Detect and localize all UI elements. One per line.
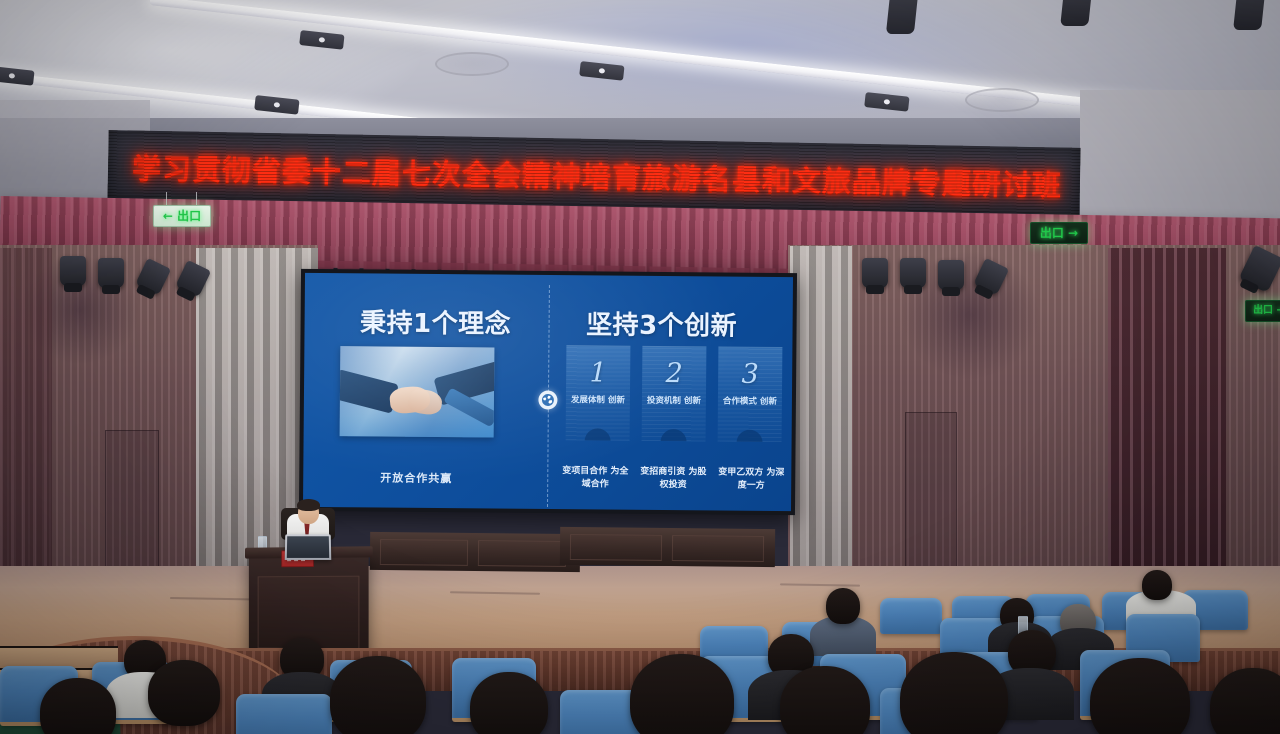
- card-number: 2: [665, 360, 682, 387]
- stage-light: [862, 258, 888, 288]
- exit-sign-left: ← 出口: [153, 205, 211, 227]
- card-label: 发展体制 创新: [571, 395, 625, 407]
- attendee-head-foreground: [780, 666, 870, 734]
- stage-curtain-far-left: [0, 248, 52, 596]
- attendee-head-foreground: [470, 672, 548, 734]
- table-panel: [672, 535, 764, 562]
- attendee-head-foreground: [900, 652, 1008, 734]
- table-panel: [570, 534, 662, 561]
- slide-heading-right: 坚持3个创新: [586, 304, 737, 342]
- card-foot: [661, 429, 687, 441]
- ceiling-vent: [435, 52, 509, 76]
- slide-card-1: 1 发展体制 创新: [566, 345, 631, 441]
- presenter-head: [298, 502, 319, 524]
- stage-light: [98, 258, 124, 288]
- slide-photo-caption: 开放合作共赢: [339, 469, 493, 486]
- stage-light: [900, 258, 926, 288]
- exit-sign-left-label: ← 出口: [163, 210, 201, 222]
- slide-cards: 1 发展体制 创新 2 投资机制 创新 3 合作模式 创新: [566, 345, 783, 442]
- card-number: 3: [741, 361, 758, 388]
- slide-card-captions: 变项目合作 为全域合作 变招商引资 为股权投资 变甲乙双方 为深度一方: [561, 465, 785, 493]
- exit-sign-far-right: 出口 →: [1245, 300, 1280, 322]
- attendee-head: [1142, 570, 1172, 600]
- card-label: 投资机制 创新: [647, 396, 701, 408]
- card-caption-1: 变项目合作 为全域合作: [561, 465, 629, 492]
- attendee-head-foreground: [1090, 658, 1190, 734]
- seat: [236, 694, 332, 734]
- card-number: 1: [589, 359, 606, 386]
- led-banner-text: 学习贯彻省委十二届七次全会精神培育旅游名县和文旅品牌专题研讨班: [126, 145, 1063, 204]
- ceiling-vent: [965, 88, 1039, 112]
- stage-curtain-far-right: [1108, 248, 1226, 596]
- attendee-head-foreground: [1210, 668, 1280, 734]
- card-label: 合作模式 创新: [723, 397, 777, 409]
- exit-sign-right-label: 出口 →: [1040, 227, 1078, 239]
- presentation-slide: 秉持1个理念 坚持3个创新 开放合作共赢: [303, 273, 793, 511]
- ceiling-speaker: [1233, 0, 1265, 30]
- slide-card-3: 3 合作模式 创新: [718, 346, 783, 442]
- card-foot: [585, 428, 611, 440]
- card-caption-2: 变招商引资 为股权投资: [639, 466, 707, 493]
- attendee-head-foreground: [630, 654, 734, 734]
- card-caption-3: 变甲乙双方 为深度一方: [717, 466, 785, 493]
- exit-sign-far-right-label: 出口 →: [1253, 306, 1280, 316]
- attendee-head-foreground: [330, 656, 426, 734]
- stage-light: [938, 260, 964, 290]
- podium-laptop: [285, 534, 332, 560]
- attendee-head: [826, 588, 860, 624]
- stage-light: [60, 256, 86, 286]
- audience-area: [0, 560, 1280, 734]
- ceiling-speaker: [886, 0, 918, 34]
- handshake-photo: [340, 346, 495, 437]
- attendee-head-foreground: [40, 678, 116, 734]
- globe-icon: [538, 390, 557, 409]
- projection-screen: 秉持1个理念 坚持3个创新 开放合作共赢: [299, 269, 797, 515]
- attendee-head-foreground: [148, 660, 220, 726]
- card-foot: [737, 430, 763, 442]
- seat: [880, 598, 942, 634]
- exit-sign-right: 出口 →: [1030, 222, 1088, 244]
- slide-heading-left: 秉持1个理念: [360, 302, 511, 340]
- ceiling-speaker: [1060, 0, 1092, 26]
- stage-curtain-right: [790, 246, 852, 596]
- presenter-hair: [297, 499, 320, 511]
- auditorium-photo: 学习贯彻省委十二届七次全会精神培育旅游名县和文旅品牌专题研讨班 ← 出口 出口 …: [0, 0, 1280, 734]
- slide-card-2: 2 投资机制 创新: [642, 346, 707, 442]
